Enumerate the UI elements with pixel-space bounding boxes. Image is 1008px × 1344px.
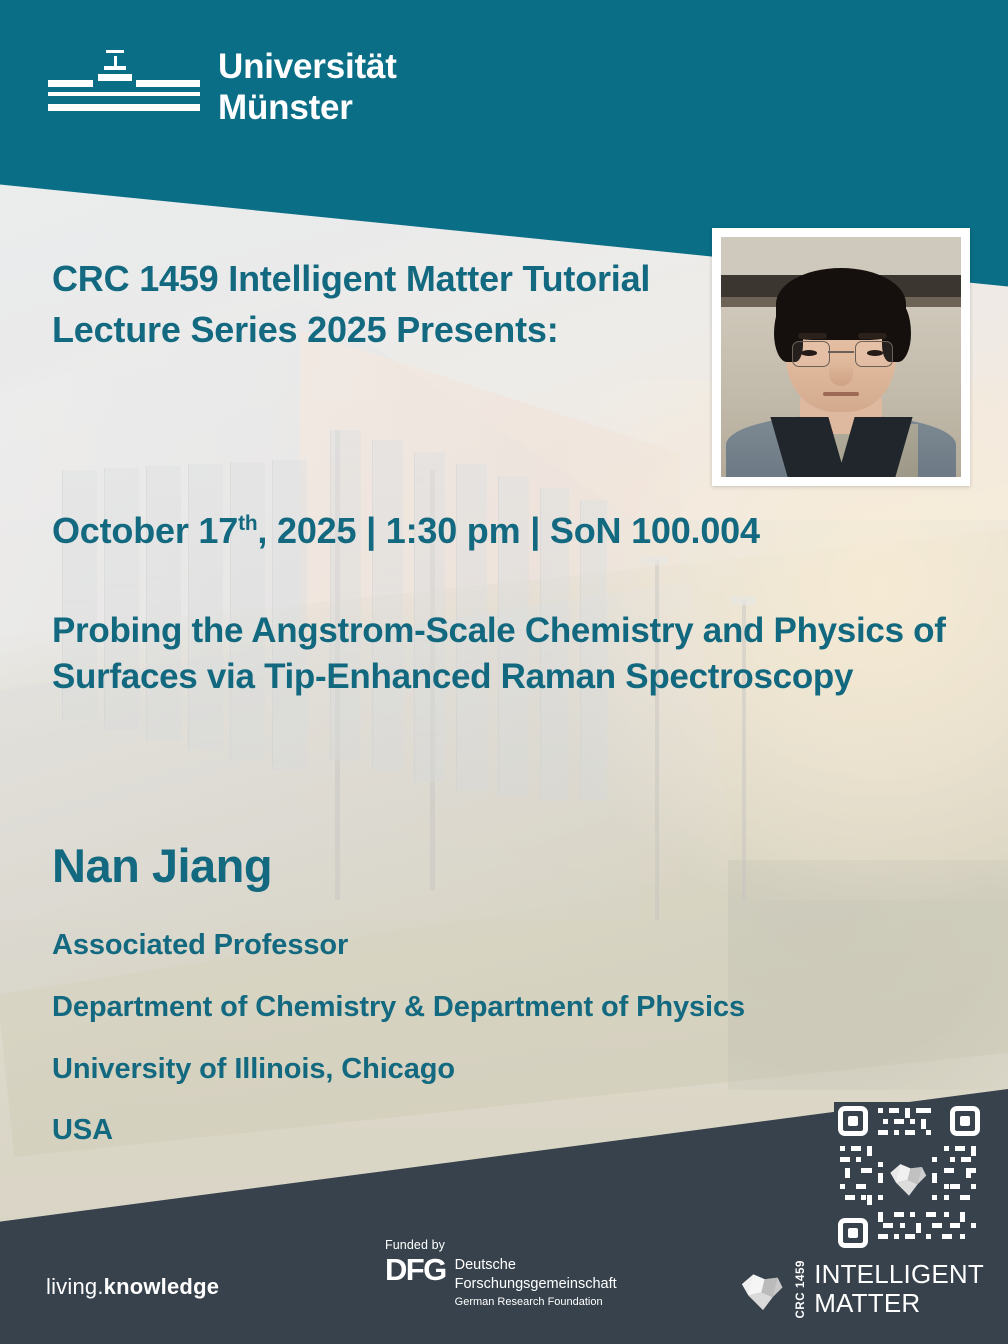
living-knowledge-tagline: living.knowledge xyxy=(46,1274,219,1300)
crc-number-label: CRC 1459 xyxy=(796,1260,808,1319)
dfg-wordmark: DFG xyxy=(385,1255,446,1285)
series-title: CRC 1459 Intelligent Matter Tutorial Lec… xyxy=(52,253,692,355)
qr-code[interactable] xyxy=(834,1102,984,1252)
lecture-title: Probing the Angstrom-Scale Chemistry and… xyxy=(52,608,952,700)
event-date-suffix: , 2025 | 1:30 pm | SoN 100.004 xyxy=(257,510,759,551)
event-date-ordinal: th xyxy=(238,512,257,535)
dfg-logo: Funded by DFG Deutsche Forschungsgemeins… xyxy=(385,1238,617,1308)
tagline-bold: knowledge xyxy=(104,1274,220,1299)
speaker-portrait-frame xyxy=(712,228,970,486)
intelligent-matter-wordmark: INTELLIGENT MATTER xyxy=(814,1260,984,1317)
speaker-portrait-photo xyxy=(721,237,961,477)
university-wordmark: Universität Münster xyxy=(218,47,397,128)
crystal-polygon-icon xyxy=(737,1263,789,1315)
poster-root: Universität Münster xyxy=(0,0,1008,1344)
university-muenster-bars-logo xyxy=(48,44,200,132)
event-date-prefix: October 17 xyxy=(52,510,238,551)
event-details: October 17th, 2025 | 1:30 pm | SoN 100.0… xyxy=(52,510,760,552)
crystal-polygon-icon xyxy=(886,1154,932,1200)
speaker-affiliation: Associated Professor Department of Chemi… xyxy=(52,915,745,1162)
university-logo: Universität Münster xyxy=(48,44,397,132)
qr-finder-top-left xyxy=(838,1106,868,1136)
tagline-plain: living xyxy=(46,1274,97,1299)
speaker-name: Nan Jiang xyxy=(52,838,272,893)
dfg-funded-by-label: Funded by xyxy=(385,1238,617,1252)
qr-finder-top-right xyxy=(950,1106,980,1136)
qr-finder-bottom-left xyxy=(838,1218,868,1248)
dfg-english-name: German Research Foundation xyxy=(455,1296,617,1308)
dfg-german-name: Deutsche Forschungsgemeinschaft xyxy=(455,1256,617,1293)
intelligent-matter-logo: CRC 1459 INTELLIGENT MATTER xyxy=(737,1258,984,1320)
